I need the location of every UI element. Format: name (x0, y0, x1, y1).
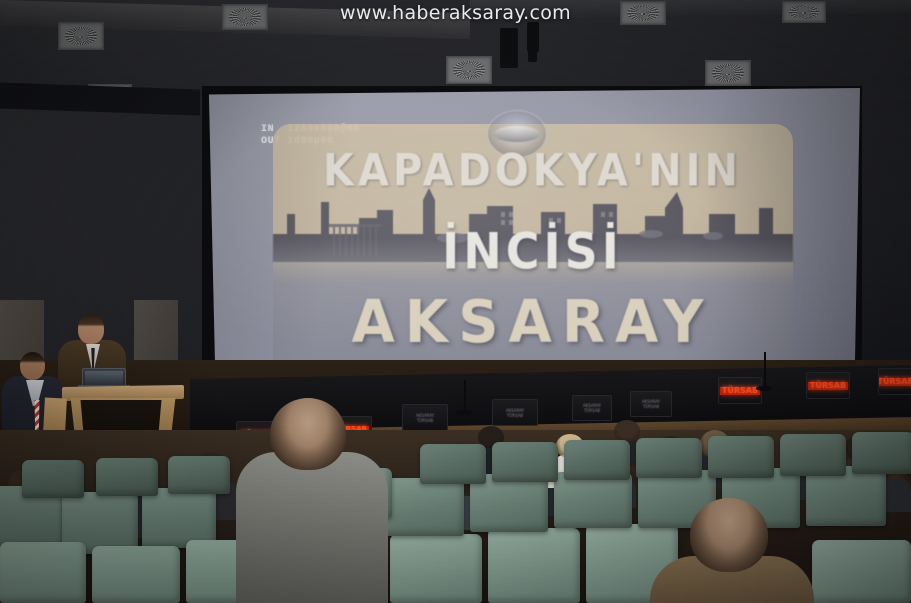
microphone-stand-c (764, 352, 766, 388)
auditorium-seat (420, 444, 486, 484)
desk-nameplate: AKSARAY TÜRSAB (402, 404, 448, 431)
projector-mount (528, 44, 537, 62)
auditorium-seat (168, 456, 230, 494)
microphone-base-c (756, 386, 772, 391)
audience-person-head (614, 420, 640, 442)
desk-nameplate: AKSARAY TÜRSAB (572, 395, 612, 421)
desk-nameplate: AKSARAY TÜRSAB (492, 399, 538, 426)
auditorium-seat (636, 438, 702, 478)
auditorium-seat (0, 542, 86, 603)
nameplate-label: AKSARAY TÜRSAB (416, 413, 434, 423)
microphone-base-b (456, 410, 472, 415)
nameplate-label: AKSARAY TÜRSAB (583, 403, 601, 413)
placard-red-label: TÜRSAB (878, 378, 911, 386)
auditorium-seat (22, 460, 84, 498)
auditorium-seat (390, 534, 482, 603)
microphone-stand-b (464, 380, 466, 412)
nameplate-label: AKSARAY TÜRSAB (506, 408, 524, 418)
auditorium-seat (92, 546, 180, 603)
air-diffuser-vent-icon (446, 56, 492, 84)
desk-placard-tursab: TÜRSAB (878, 368, 911, 395)
slide-title-line-1: KAPADOKYA'NIN (205, 145, 860, 197)
auditorium-seat (812, 540, 911, 603)
auditorium-seat (564, 440, 630, 480)
foreground-person-1-body (236, 452, 388, 603)
site-watermark: www.haberaksaray.com (0, 2, 911, 24)
speaker-secondary-head (20, 352, 45, 380)
auditorium-seat (386, 478, 464, 536)
auditorium-seat (492, 442, 558, 482)
nameplate-label: AKSARAY TÜRSAB (642, 399, 660, 409)
auditorium-seat (708, 436, 774, 478)
conference-hall-photo: IN 1280x800@60 OUT 1080p60 (0, 0, 911, 603)
air-diffuser-vent-icon (58, 22, 104, 50)
auditorium-seat (96, 458, 158, 496)
slide-title-line-2: İNCİSİ (205, 222, 860, 280)
desk-placard-tursab: TÜRSAB (806, 372, 850, 399)
desk-nameplate: AKSARAY TÜRSAB (630, 391, 672, 417)
placard-red-label: TÜRSAB (720, 387, 760, 395)
ceiling-bracket-a (500, 28, 518, 68)
auditorium-seat (142, 488, 216, 548)
podium-document (43, 397, 67, 434)
auditorium-seat (554, 472, 632, 528)
auditorium-seat (852, 432, 911, 474)
air-diffuser-vent-icon (705, 60, 751, 86)
placard-red-label: TÜRSAB (808, 382, 848, 390)
desk-placard-tursab: TÜRSAB (718, 377, 762, 404)
foreground-person-1-head (270, 398, 346, 470)
speaker-primary-head (78, 314, 104, 344)
projection-screen: IN 1280x800@60 OUT 1080p60 (205, 88, 860, 384)
foreground-person-2-head (690, 498, 768, 572)
auditorium-seat (780, 434, 846, 476)
auditorium-seat (488, 528, 580, 603)
slide-title-line-3: AKSARAY (205, 288, 860, 356)
